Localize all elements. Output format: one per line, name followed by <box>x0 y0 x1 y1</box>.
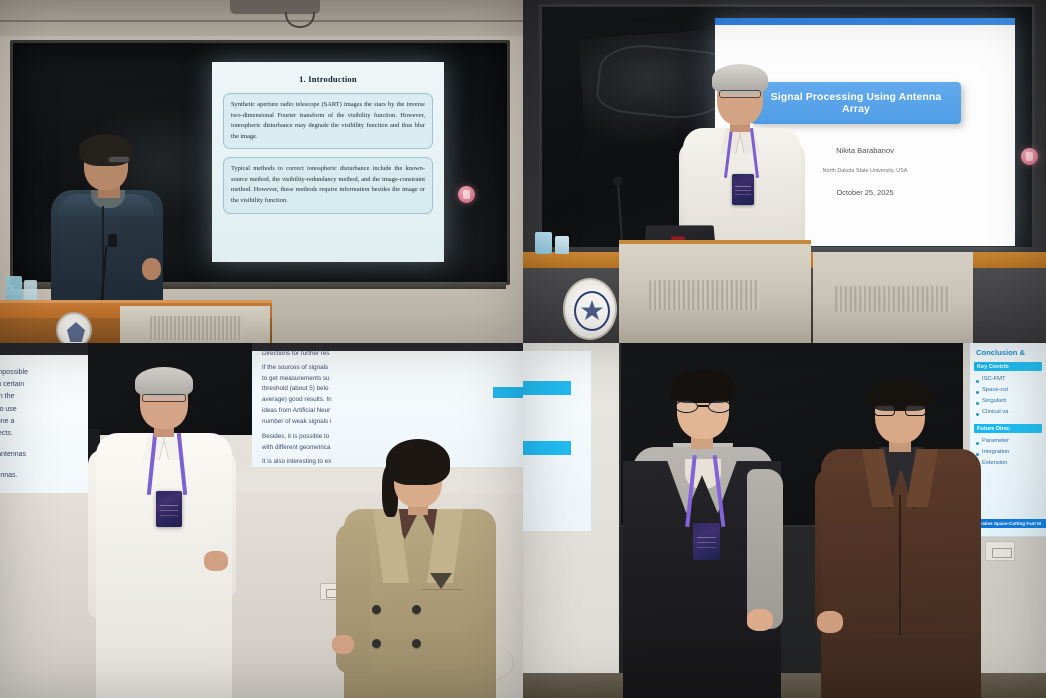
panel-top-right: Signal Processing Using Antenna Array Ni… <box>523 0 1046 343</box>
glasses-icon <box>874 405 926 416</box>
slide-line: provide (in the <box>0 391 82 403</box>
slide-title: Conclusion & <box>976 348 1025 357</box>
glasses-icon <box>142 394 186 402</box>
ceiling-seam <box>0 20 523 22</box>
slide-bullet: Space-cut <box>974 385 1042 396</box>
slide-line: ideas from Artificial Neur <box>262 406 520 417</box>
speaker-person <box>46 138 166 308</box>
slide-line: roach to antennas <box>0 449 82 461</box>
slide-paragraph-2: Typical methods to correct ionospheric d… <box>231 164 425 206</box>
slide-title: 1. Introduction <box>223 74 433 84</box>
glasses-icon <box>108 156 130 163</box>
conference-badge <box>156 491 182 527</box>
slide-line: igger than certain <box>0 379 82 391</box>
slide-bullet: Parameter <box>974 436 1042 447</box>
university-seal-icon <box>56 312 92 343</box>
slide-bullet: Integration <box>974 447 1042 458</box>
coat-flap <box>430 573 452 589</box>
award-recipient-person <box>619 373 785 698</box>
glasses-icon <box>675 400 731 413</box>
conference-badge <box>732 174 754 205</box>
slide-text-box-2: Typical methods to correct ionospheric d… <box>223 157 433 213</box>
conference-badge <box>693 523 720 560</box>
wall-unit <box>985 541 1015 561</box>
water-cup-secondary <box>555 236 569 254</box>
podium-grille-secondary <box>835 286 950 312</box>
slide-section-header: Future Direc <box>974 424 1042 433</box>
slide-line: to get measurements su <box>262 374 520 385</box>
podium-grille <box>649 280 759 310</box>
slide-accent-bar <box>523 381 571 395</box>
projected-slide-introduction: 1. Introduction Synthetic aperture radio… <box>212 62 444 262</box>
slide-bullet: Singularit <box>974 396 1042 407</box>
slide-line: oving objects. <box>0 428 82 440</box>
slide-text-box-1: Synthetic aperture radio telescope (SART… <box>223 93 433 149</box>
slide-line: o 3D antennas. <box>0 470 82 482</box>
glasses-icon <box>719 90 761 98</box>
slide-line: If the sources of signals <box>262 363 520 374</box>
screen-bezel <box>0 343 88 355</box>
photo-collage: 1. Introduction Synthetic aperture radio… <box>0 0 1046 698</box>
water-cup <box>535 232 552 254</box>
slide-top-accent-bar <box>715 18 1015 25</box>
speaker-grille <box>150 316 242 340</box>
panel-bottom-right: Conclusion & Key Contrib ISC-FMT Space-c… <box>523 343 1046 698</box>
slide-paragraph-1: Synthetic aperture radio telescope (SART… <box>231 100 425 142</box>
lapel-microphone-icon <box>108 234 117 247</box>
award-presenter-person <box>819 385 983 698</box>
slide-line: number of weak signals i <box>262 417 520 428</box>
slide-line: possible to use <box>0 404 82 416</box>
slide-line: r to combine a <box>0 416 82 428</box>
panel-top-left: 1. Introduction Synthetic aperture radio… <box>0 0 523 343</box>
award-presenter-person <box>88 373 238 698</box>
slide-accent-bar <box>523 441 571 455</box>
slide-bullet: Extension <box>974 458 1042 469</box>
award-recipient-person <box>336 447 504 698</box>
slide-highlight <box>493 387 523 398</box>
slide-bullet: Clinical va <box>974 407 1042 418</box>
conference-logo-icon <box>1021 148 1038 165</box>
slide-section-header: Key Contrib <box>974 362 1042 371</box>
slide-heading: Directions for further res <box>262 349 520 360</box>
slide-text-left: may be impossible igger than certain pro… <box>0 367 82 482</box>
slide-line: may be impossible <box>0 367 82 379</box>
slide-line: threshold (about 5) belo <box>262 384 520 395</box>
panel-bottom-left: may be impossible igger than certain pro… <box>0 343 523 698</box>
slide-bullet: ISC-FMT <box>974 374 1042 385</box>
slide-line: average) good results. In <box>262 395 520 406</box>
slide-line: Besides, it is possible to <box>262 432 520 443</box>
university-seal-icon <box>563 278 617 340</box>
conference-logo-icon <box>458 186 475 203</box>
